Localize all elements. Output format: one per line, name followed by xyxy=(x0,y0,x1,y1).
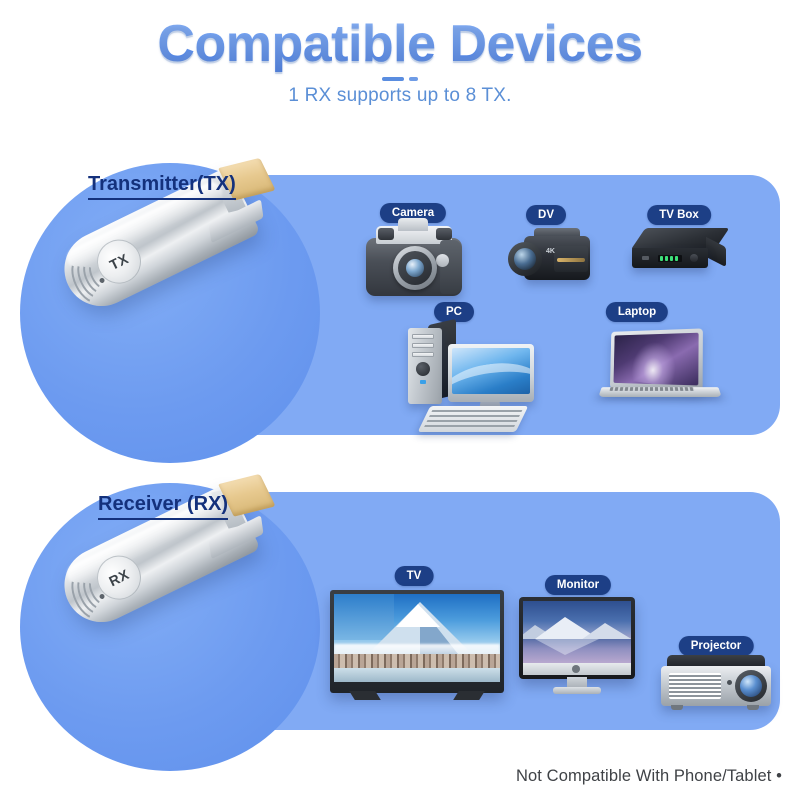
transmitter-section-label: Transmitter(TX) xyxy=(88,173,236,200)
pill-dv: DV xyxy=(526,205,566,225)
laptop-icon xyxy=(600,330,726,412)
pill-monitor: Monitor xyxy=(545,575,611,595)
desktop-pc-icon xyxy=(402,320,542,436)
pill-tv: TV xyxy=(395,566,434,586)
television-icon xyxy=(330,590,504,702)
compatibility-note: Not Compatible With Phone/Tablet • xyxy=(516,767,782,786)
receiver-section-label: Receiver (RX) xyxy=(98,493,228,520)
projector-icon xyxy=(661,655,773,713)
tv-box-icon xyxy=(632,228,732,280)
monitor-icon xyxy=(519,597,635,697)
dash-separator-icon xyxy=(0,70,800,84)
page-title: Compatible Devices xyxy=(0,14,800,74)
pill-laptop: Laptop xyxy=(606,302,668,322)
pill-tv-box: TV Box xyxy=(647,205,711,225)
camera-icon xyxy=(366,224,466,300)
page-subtitle: 1 RX supports up to 8 TX. xyxy=(0,85,800,107)
camcorder-icon: 4K xyxy=(508,226,600,288)
infographic-root: Compatible Devices Compatible Devices 1 … xyxy=(0,0,800,800)
pill-projector: Projector xyxy=(679,636,754,656)
